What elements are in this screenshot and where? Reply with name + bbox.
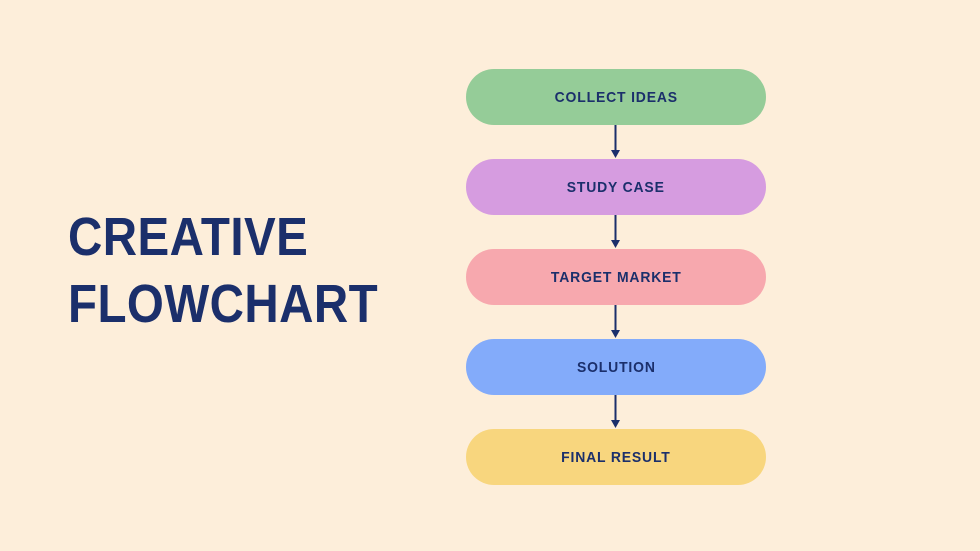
- flow-connector-3: [466, 305, 766, 339]
- flow-connector-4: [466, 395, 766, 429]
- flow-node-label: Target Market: [551, 269, 682, 286]
- flow-node-box[interactable]: Target Market: [466, 249, 766, 305]
- page-title-line-2: Flowchart: [68, 271, 385, 338]
- flow-connector-2: [466, 215, 766, 249]
- flow-node-label: Collect Ideas: [554, 89, 677, 106]
- flow-node-box[interactable]: Study Case: [466, 159, 766, 215]
- flow-node-3[interactable]: Target Market: [466, 249, 766, 305]
- slide-canvas: Creative Flowchart Collect IdeasStudy Ca…: [0, 0, 980, 551]
- flow-node-2[interactable]: Study Case: [466, 159, 766, 215]
- flow-node-5[interactable]: Final Result: [466, 429, 766, 485]
- flow-node-box[interactable]: Final Result: [466, 429, 766, 485]
- page-title: Creative Flowchart: [68, 204, 428, 338]
- arrow-down-icon: [466, 215, 766, 249]
- page-title-line-1: Creative: [68, 204, 385, 271]
- arrow-down-icon: [466, 305, 766, 339]
- flow-node-box[interactable]: Solution: [466, 339, 766, 395]
- flow-node-label: Solution: [577, 359, 656, 376]
- arrow-down-icon: [466, 395, 766, 429]
- flow-node-label: Study Case: [567, 179, 665, 196]
- flow-connector-1: [466, 125, 766, 159]
- flow-node-label: Final Result: [561, 449, 671, 466]
- flow-node-box[interactable]: Collect Ideas: [466, 69, 766, 125]
- flow-node-4[interactable]: Solution: [466, 339, 766, 395]
- flow-node-1[interactable]: Collect Ideas: [466, 69, 766, 125]
- flowchart-diagram: Collect IdeasStudy CaseTarget MarketSolu…: [466, 69, 766, 485]
- arrow-down-icon: [466, 125, 766, 159]
